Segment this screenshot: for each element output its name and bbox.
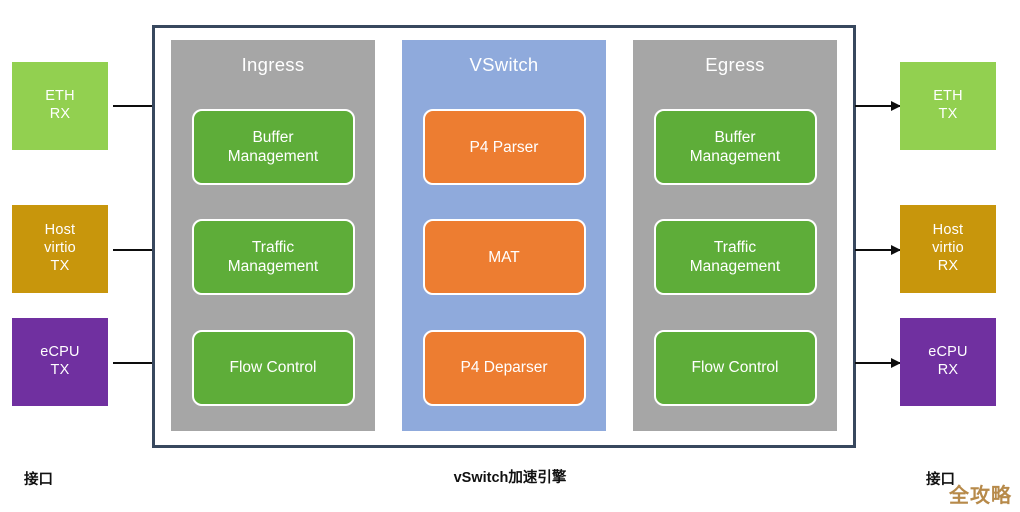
stage-body-vswitch: P4 Parser MAT P4 Deparser <box>402 92 606 431</box>
caption-engine-title: vSwitch加速引擎 <box>0 466 1020 487</box>
stage-egress: Egress Buffer Management Traffic Managem… <box>633 40 837 431</box>
port-label-host-virtio-tx: Host virtio TX <box>44 222 76 275</box>
port-text-line3: TX <box>51 258 70 274</box>
block-text-line1: Flow Control <box>692 358 779 377</box>
stage-title-ingress: Ingress <box>242 54 305 76</box>
port-box-eth-rx: ETH RX <box>12 62 108 150</box>
port-text-line1: Host <box>933 222 964 238</box>
block-text-line2: Management <box>228 148 318 165</box>
port-label-ecpu-rx: eCPU RX <box>928 344 967 379</box>
port-text-line1: ETH <box>933 88 963 104</box>
port-text-line2: RX <box>938 362 959 378</box>
block-mat: MAT <box>423 219 586 295</box>
stage-vswitch: VSwitch P4 Parser MAT P4 Deparser <box>402 40 606 431</box>
block-text-line1: Flow Control <box>230 358 317 377</box>
block-text-line2: Management <box>690 148 780 165</box>
port-text-line2: virtio <box>44 240 76 256</box>
port-text-line2: virtio <box>932 240 964 256</box>
port-label-eth-rx: ETH RX <box>45 88 75 123</box>
port-text-line1: eCPU <box>928 344 967 360</box>
port-label-host-virtio-rx: Host virtio RX <box>932 222 964 275</box>
port-text-line1: Host <box>45 222 76 238</box>
block-p4-deparser: P4 Deparser <box>423 330 586 406</box>
stage-body-ingress: Buffer Management Traffic Management Flo… <box>171 92 375 431</box>
block-text-line1: Buffer <box>252 129 293 146</box>
block-egress-buffer-management: Buffer Management <box>654 109 817 185</box>
port-text-line1: eCPU <box>40 344 79 360</box>
port-box-ecpu-tx: eCPU TX <box>12 318 108 406</box>
watermark-text: 全攻略 <box>949 479 1012 508</box>
arrow-engine-to-ecpu-rx <box>855 362 900 364</box>
port-label-eth-tx: ETH TX <box>933 88 963 123</box>
engine-container: Ingress Buffer Management Traffic Manage… <box>152 25 856 448</box>
block-text-line1: MAT <box>488 248 520 267</box>
port-box-host-virtio-rx: Host virtio RX <box>900 205 996 293</box>
stage-ingress: Ingress Buffer Management Traffic Manage… <box>171 40 375 431</box>
stage-title-vswitch: VSwitch <box>470 54 539 76</box>
port-text-line2: TX <box>51 362 70 378</box>
port-text-line2: TX <box>939 106 958 122</box>
port-text-line2: RX <box>50 106 71 122</box>
port-box-host-virtio-tx: Host virtio TX <box>12 205 108 293</box>
port-box-ecpu-rx: eCPU RX <box>900 318 996 406</box>
block-text-line1: P4 Parser <box>470 138 539 157</box>
port-text-line3: RX <box>938 258 959 274</box>
block-text-line1: Buffer <box>714 129 755 146</box>
stage-title-egress: Egress <box>705 54 764 76</box>
block-text-line1: Traffic <box>714 239 756 256</box>
block-text-line2: Management <box>228 258 318 275</box>
port-text-line1: ETH <box>45 88 75 104</box>
block-text-line2: Management <box>690 258 780 275</box>
block-egress-flow-control: Flow Control <box>654 330 817 406</box>
block-p4-parser: P4 Parser <box>423 109 586 185</box>
arrow-engine-to-eth-tx <box>855 105 900 107</box>
vswitch-acceleration-engine-diagram: ETH RX Host virtio TX eCPU TX Ingress Bu… <box>0 0 1020 512</box>
block-ingress-flow-control: Flow Control <box>192 330 355 406</box>
port-box-eth-tx: ETH TX <box>900 62 996 150</box>
stage-body-egress: Buffer Management Traffic Management Flo… <box>633 92 837 431</box>
block-ingress-traffic-management: Traffic Management <box>192 219 355 295</box>
block-text-line1: P4 Deparser <box>460 358 547 377</box>
block-text-line1: Traffic <box>252 239 294 256</box>
port-label-ecpu-tx: eCPU TX <box>40 344 79 379</box>
block-egress-traffic-management: Traffic Management <box>654 219 817 295</box>
arrow-engine-to-host-virtio-rx <box>855 249 900 251</box>
block-ingress-buffer-management: Buffer Management <box>192 109 355 185</box>
